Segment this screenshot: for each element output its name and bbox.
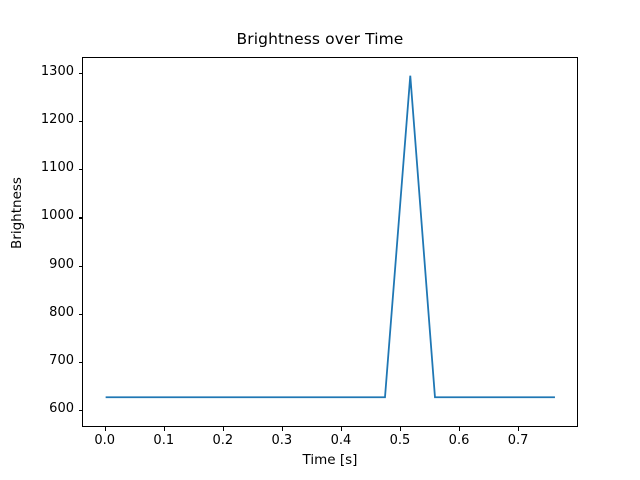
y-tick-label: 900 (49, 257, 74, 272)
y-tick-label: 600 (49, 401, 74, 416)
x-axis-label: Time [s] (82, 452, 578, 468)
x-tick-mark (282, 427, 283, 431)
y-tick-label: 1100 (41, 160, 74, 175)
x-tick-label: 0.1 (139, 433, 189, 448)
y-tick-label: 800 (49, 305, 74, 320)
x-tick-label: 0.6 (434, 433, 484, 448)
x-tick-mark (105, 427, 106, 431)
x-tick-mark (459, 427, 460, 431)
x-tick-mark (400, 427, 401, 431)
y-tick-label: 1000 (41, 208, 74, 223)
x-tick-mark (518, 427, 519, 431)
plot-area (82, 57, 578, 427)
y-tick-label: 1200 (41, 112, 74, 127)
x-tick-mark (164, 427, 165, 431)
line-chart-svg (83, 58, 577, 426)
x-tick-label: 0.3 (257, 433, 307, 448)
x-tick-mark (223, 427, 224, 431)
data-series-brightness (106, 76, 555, 398)
y-axis-label: Brightness (9, 163, 25, 263)
figure-canvas: Brightness over Time Brightness Time [s]… (0, 0, 640, 480)
x-tick-label: 0.5 (375, 433, 425, 448)
x-tick-label: 0.2 (198, 433, 248, 448)
x-tick-label: 0.4 (316, 433, 366, 448)
x-tick-label: 0.7 (493, 433, 543, 448)
x-tick-label: 0.0 (80, 433, 130, 448)
y-tick-label: 700 (49, 353, 74, 368)
y-tick-label: 1300 (41, 64, 74, 79)
x-tick-mark (341, 427, 342, 431)
page-title: Brightness over Time (0, 30, 640, 48)
